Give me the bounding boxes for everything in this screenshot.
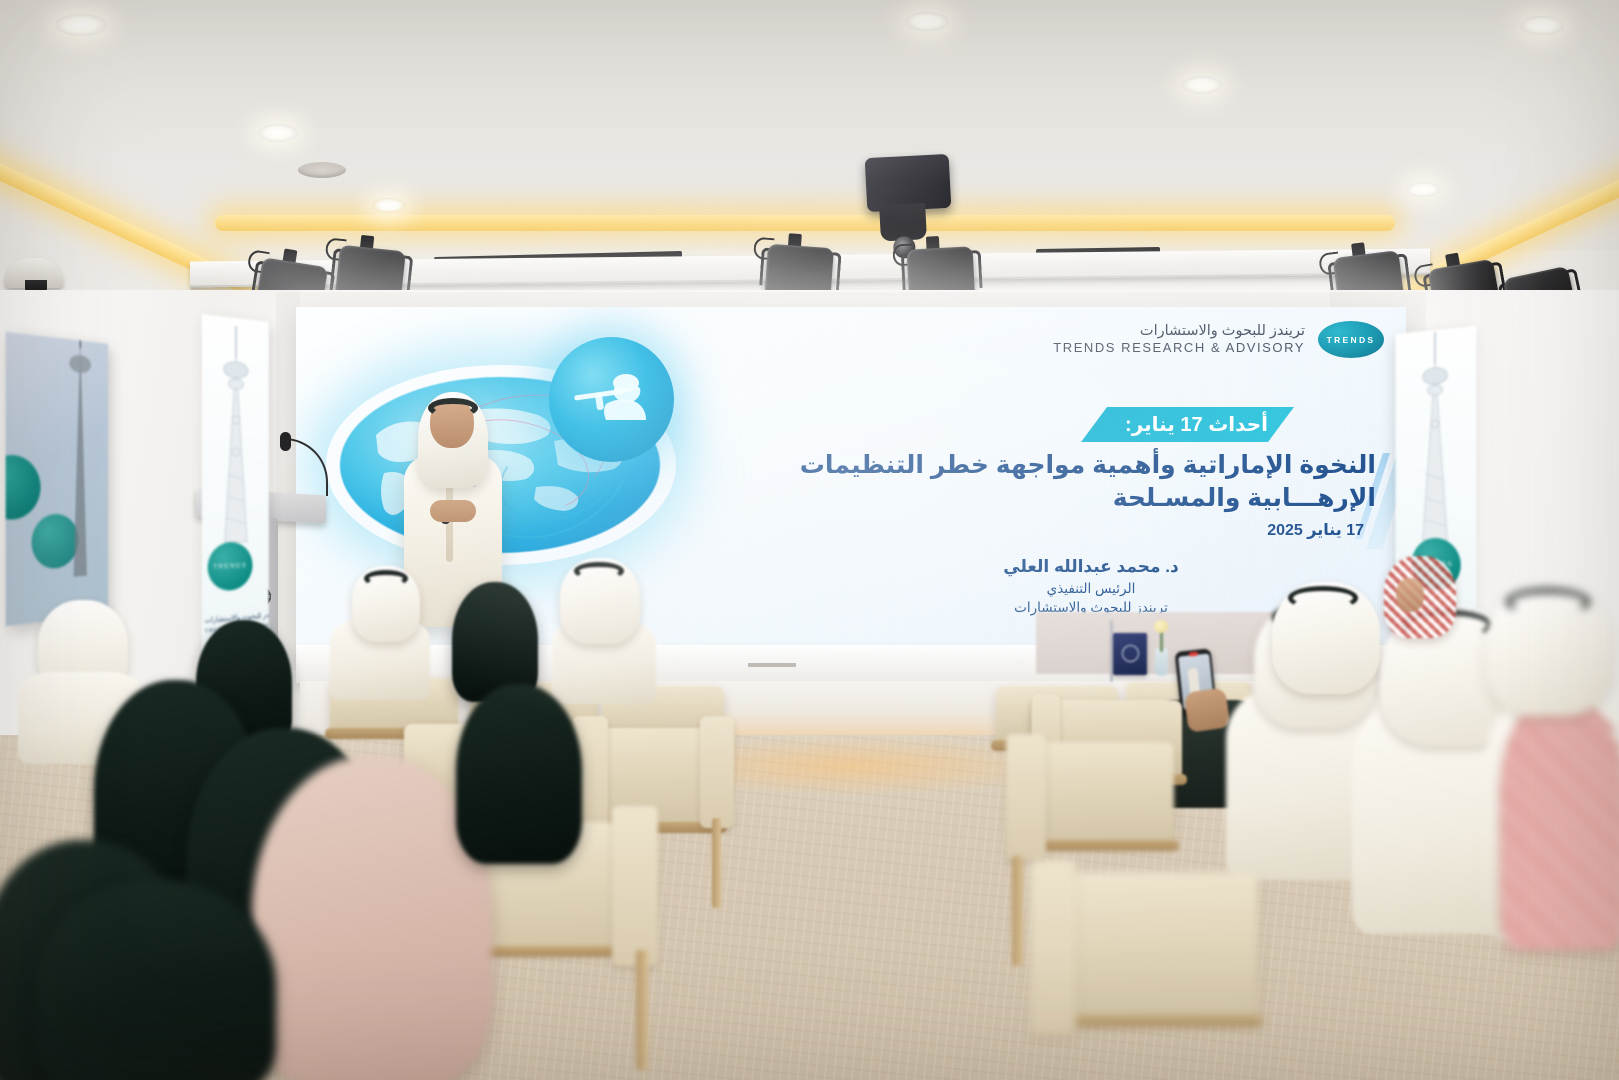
chair-leg [712,818,721,908]
ceiling-downlight [258,124,298,142]
attendee-face [1396,578,1424,612]
chair-armrest [612,806,658,966]
platform-seam [748,663,796,667]
ceiling-vent [298,162,346,178]
speaker-role: الرئيس التنفيذي [926,579,1256,598]
attendee-agal [1288,586,1358,610]
chair-armrest [700,716,734,828]
ceiling-downlight [1406,182,1440,197]
attendee-agal [364,570,408,587]
navy-emblem-flag [1113,633,1147,675]
speaker-name: د. محمد عبدالله العلي [926,555,1256,579]
cove-light-center [215,215,1395,231]
chair-armrest [1030,860,1076,1036]
ceiling-downlight [372,198,406,213]
ceiling-downlight [905,12,949,31]
attendee-agal [1506,588,1590,616]
attendee-abaya [456,684,582,864]
ceiling-inner-panel [0,0,1619,250]
trends-logo-icon: TRENDS [1318,321,1384,358]
flower-vase [1155,648,1168,676]
chair-armrest [1006,734,1046,860]
ceiling-downlight [1182,76,1222,94]
flag-emblem-icon [1122,645,1139,662]
attendee-abaya [36,880,276,1080]
slide-kicker-text: أحداث 17 يناير: [1125,412,1268,437]
tower-graphic-icon [1405,329,1465,551]
attendee-agal [574,562,624,580]
ceiling-projector [865,154,952,212]
slide-speaker-block: د. محمد عبدالله العلي الرئيس التنفيذي تر… [926,555,1256,617]
brand-arabic-name: تريندز للبحوث والاستشارات [1053,323,1305,340]
tower-graphic-icon [208,321,264,555]
ceiling-downlight [1520,16,1564,35]
mic-capsule-icon [280,432,291,451]
event-photo-scene: تريندز للبحوث والاستشارات TRENDS RESEARC… [0,0,1619,1080]
militant-glyph [570,364,654,436]
rollup-banner-left: TRENDS تريندز للبحوث والاستشارات TRENDS … [202,314,269,667]
ceiling-downlight [55,14,107,36]
chair-leg [636,950,648,1070]
attendee-hand [1183,687,1230,732]
slide-title: النخوة الإماراتية وأهمية مواجهة خطر التن… [736,449,1376,514]
armed-militant-icon [549,337,674,462]
attendee-shemagh [1500,700,1619,950]
brand-english-name: TRENDS RESEARCH & ADVISORY [1053,340,1305,355]
slide-date: 17 يناير 2025 [1267,520,1364,540]
trends-logo-text: TRENDS [1327,335,1376,345]
gooseneck-microphone [284,438,330,500]
speaker-hands [430,500,476,522]
speaker-agal [428,398,478,418]
chair-leg [1012,856,1023,966]
audience-chair [1048,872,1258,1018]
slide-kicker-badge: أحداث 17 يناير: [1081,407,1294,442]
tower-graphic-icon [62,332,99,620]
brand-lockup-text: تريندز للبحوث والاستشارات TRENDS RESEARC… [1053,323,1305,355]
banner-logo-text: TRENDS [208,562,253,571]
banner-logo-circle: TRENDS [208,541,253,591]
flower-bloom-icon [1154,620,1168,633]
poster-circle [6,455,41,521]
wall-poster-left [6,332,108,626]
slide-brand-header: تريندز للبحوث والاستشارات TRENDS RESEARC… [1053,321,1384,358]
